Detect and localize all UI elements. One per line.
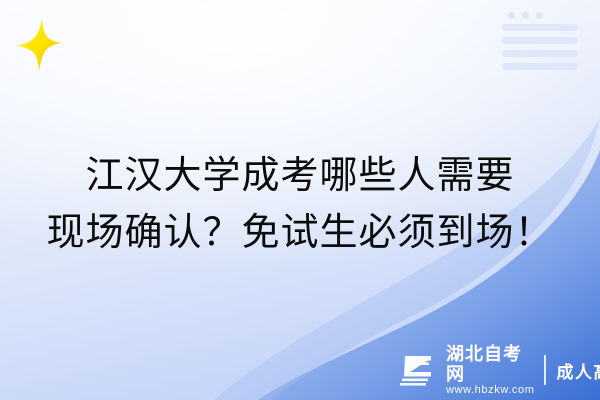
brand-text-block: 湖北自考网 www.hbzkw.com: [446, 344, 535, 397]
poster-canvas: 江汉大学成考哪些人需要 现场确认？免试生必须到场！ 湖北自考网 www.hbzk…: [0, 0, 600, 400]
decoration-bar: [502, 37, 578, 44]
brand-divider: [544, 355, 546, 385]
page-title: 江汉大学成考哪些人需要 现场确认？免试生必须到场！: [0, 148, 600, 262]
decoration-dot-row: [508, 12, 578, 19]
decoration-bar: [502, 24, 578, 31]
decoration-dot: [522, 12, 529, 19]
page-title-line-1: 江汉大学成考哪些人需要: [0, 148, 600, 205]
brand-url: www.hbzkw.com: [446, 384, 535, 397]
hbzkw-logo-icon: [398, 353, 438, 387]
sparkle-star-icon: [12, 16, 68, 74]
document-lines-decoration: [502, 12, 578, 64]
brand-watermark: 湖北自考网 www.hbzkw.com 成人高考: [398, 350, 600, 390]
brand-tagline: 成人高考: [557, 358, 600, 383]
decoration-dot: [508, 12, 515, 19]
brand-name: 湖北自考网: [446, 344, 535, 384]
decoration-dot: [536, 12, 543, 19]
page-title-line-2: 现场确认？免试生必须到场！: [0, 205, 600, 262]
decoration-bar: [502, 50, 578, 57]
decoration-bar: [502, 63, 578, 70]
